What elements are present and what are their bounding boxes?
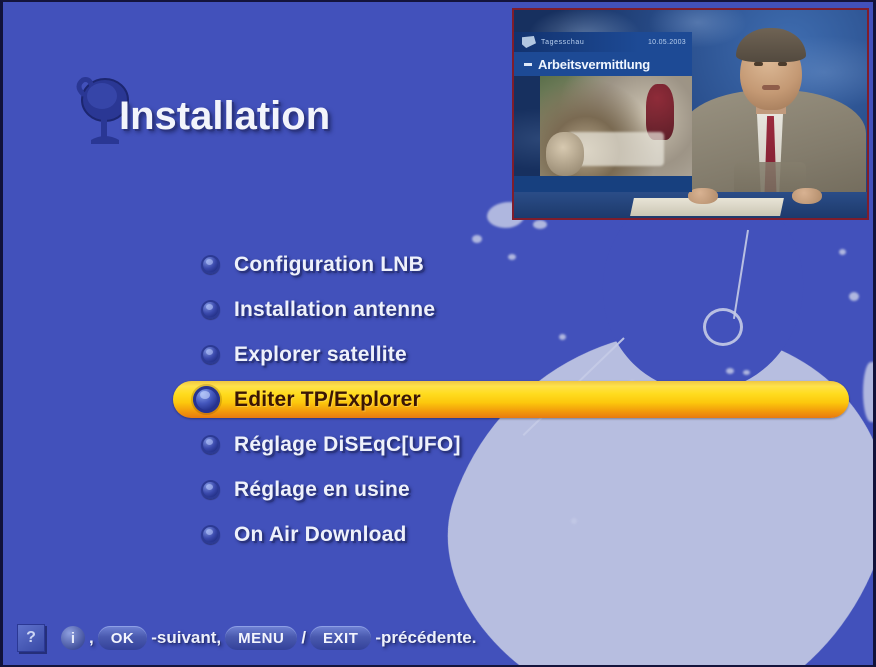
menu-item-label: On Air Download [234,523,407,547]
bullet-icon [201,525,220,544]
video-channel-name: Tagesschau [541,39,584,46]
background-blob [533,220,547,229]
menu-key-icon[interactable]: MENU [225,626,297,650]
video-preview[interactable]: Tagesschau 10.05.2003 Arbeitsvermittlung [512,8,869,220]
video-lower-bar [514,176,692,192]
video-headline-bar: Arbeitsvermittlung [514,52,692,76]
statusbar: ? i , OK -suivant, MENU / EXIT -précéden… [17,623,480,653]
page-title-text: Installation [119,96,330,146]
menu-item-label: Explorer satellite [234,343,407,367]
installation-menu: Configuration LNB Installation antenne E… [3,242,876,557]
ok-action-label: -suivant, [151,628,221,648]
menu-item-editer-tp-explorer[interactable]: Editer TP/Explorer [3,377,876,422]
exit-action-label: -précédente. [375,628,476,648]
video-channel-banner: Tagesschau 10.05.2003 [514,32,692,52]
video-inset-image [540,76,692,182]
bullet-dash-icon [524,63,532,66]
channel-logo-icon [522,36,536,48]
exit-key-icon[interactable]: EXIT [310,626,371,650]
menu-item-configuration-lnb[interactable]: Configuration LNB [3,242,876,287]
video-headline: Arbeitsvermittlung [538,57,650,72]
statusbar-separator: / [301,628,306,648]
menu-item-label: Réglage DiSEqC[UFO] [234,433,461,457]
bullet-icon [201,300,220,319]
menu-item-on-air-download[interactable]: On Air Download [3,512,876,557]
menu-item-explorer-satellite[interactable]: Explorer satellite [3,332,876,377]
bullet-icon [201,345,220,364]
video-presenter [674,8,869,218]
menu-item-label: Installation antenne [234,298,435,322]
menu-item-label: Réglage en usine [234,478,410,502]
bullet-icon [201,480,220,499]
menu-item-installation-antenne[interactable]: Installation antenne [3,287,876,332]
page-title: Installation [73,60,330,146]
menu-item-reglage-diseqc-ufo[interactable]: Réglage DiSEqC[UFO] [3,422,876,467]
video-date: 10.05.2003 [648,39,686,46]
bullet-icon-selected [193,386,220,413]
menu-item-label: Editer TP/Explorer [234,388,421,412]
info-key-icon[interactable]: i [61,626,85,650]
help-key-icon[interactable]: ? [17,624,45,652]
ok-key-icon[interactable]: OK [98,626,148,650]
statusbar-separator: , [89,628,94,648]
tv-menu-screen: Installation Tagesschau 10.05.2003 [0,0,876,667]
menu-item-label: Configuration LNB [234,253,424,277]
bullet-icon [201,255,220,274]
bullet-icon [201,435,220,454]
menu-item-reglage-en-usine[interactable]: Réglage en usine [3,467,876,512]
